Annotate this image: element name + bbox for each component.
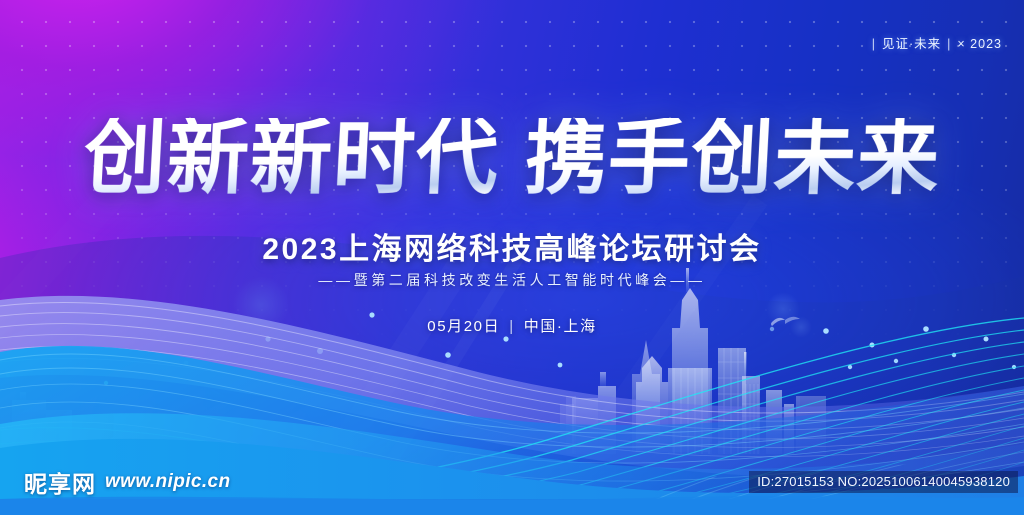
event-location: 中国·上海 xyxy=(524,318,597,335)
watermark: 昵享网 www.nipic.cn xyxy=(24,465,231,499)
event-subtitle: 2023上海网络科技高峰论坛研讨会 xyxy=(0,224,1024,268)
headline-part-1: 创新新时代 xyxy=(82,118,501,200)
watermark-logo-text: 昵享网 xyxy=(24,465,96,499)
poster-canvas: |见证·未来|× 2023 创新新时代携手创未来 2023上海网络科技高峰论坛研… xyxy=(0,0,1024,515)
headline-part-2: 携手创未来 xyxy=(523,118,942,200)
main-headline: 创新新时代携手创未来 xyxy=(0,118,1024,200)
image-id-label: ID:27015153 NO:20251006140045938120 xyxy=(749,471,1018,493)
divider-right: | xyxy=(947,37,951,51)
watermark-url: www.nipic.cn xyxy=(105,471,231,493)
event-date: 05月20日 xyxy=(427,318,500,335)
witness-future-text: 见证·未来 xyxy=(882,37,941,51)
year-badge-text: × 2023 xyxy=(957,37,1002,51)
date-location-line: 05月20日|中国·上海 xyxy=(0,315,1024,336)
divider-left: | xyxy=(872,37,876,51)
date-location-separator: | xyxy=(509,318,515,335)
event-tagline: ——暨第二届科技改变生活人工智能时代峰会—— xyxy=(0,270,1024,290)
city-skyline xyxy=(12,268,826,454)
top-right-tagline: |见证·未来|× 2023 xyxy=(866,33,1002,52)
